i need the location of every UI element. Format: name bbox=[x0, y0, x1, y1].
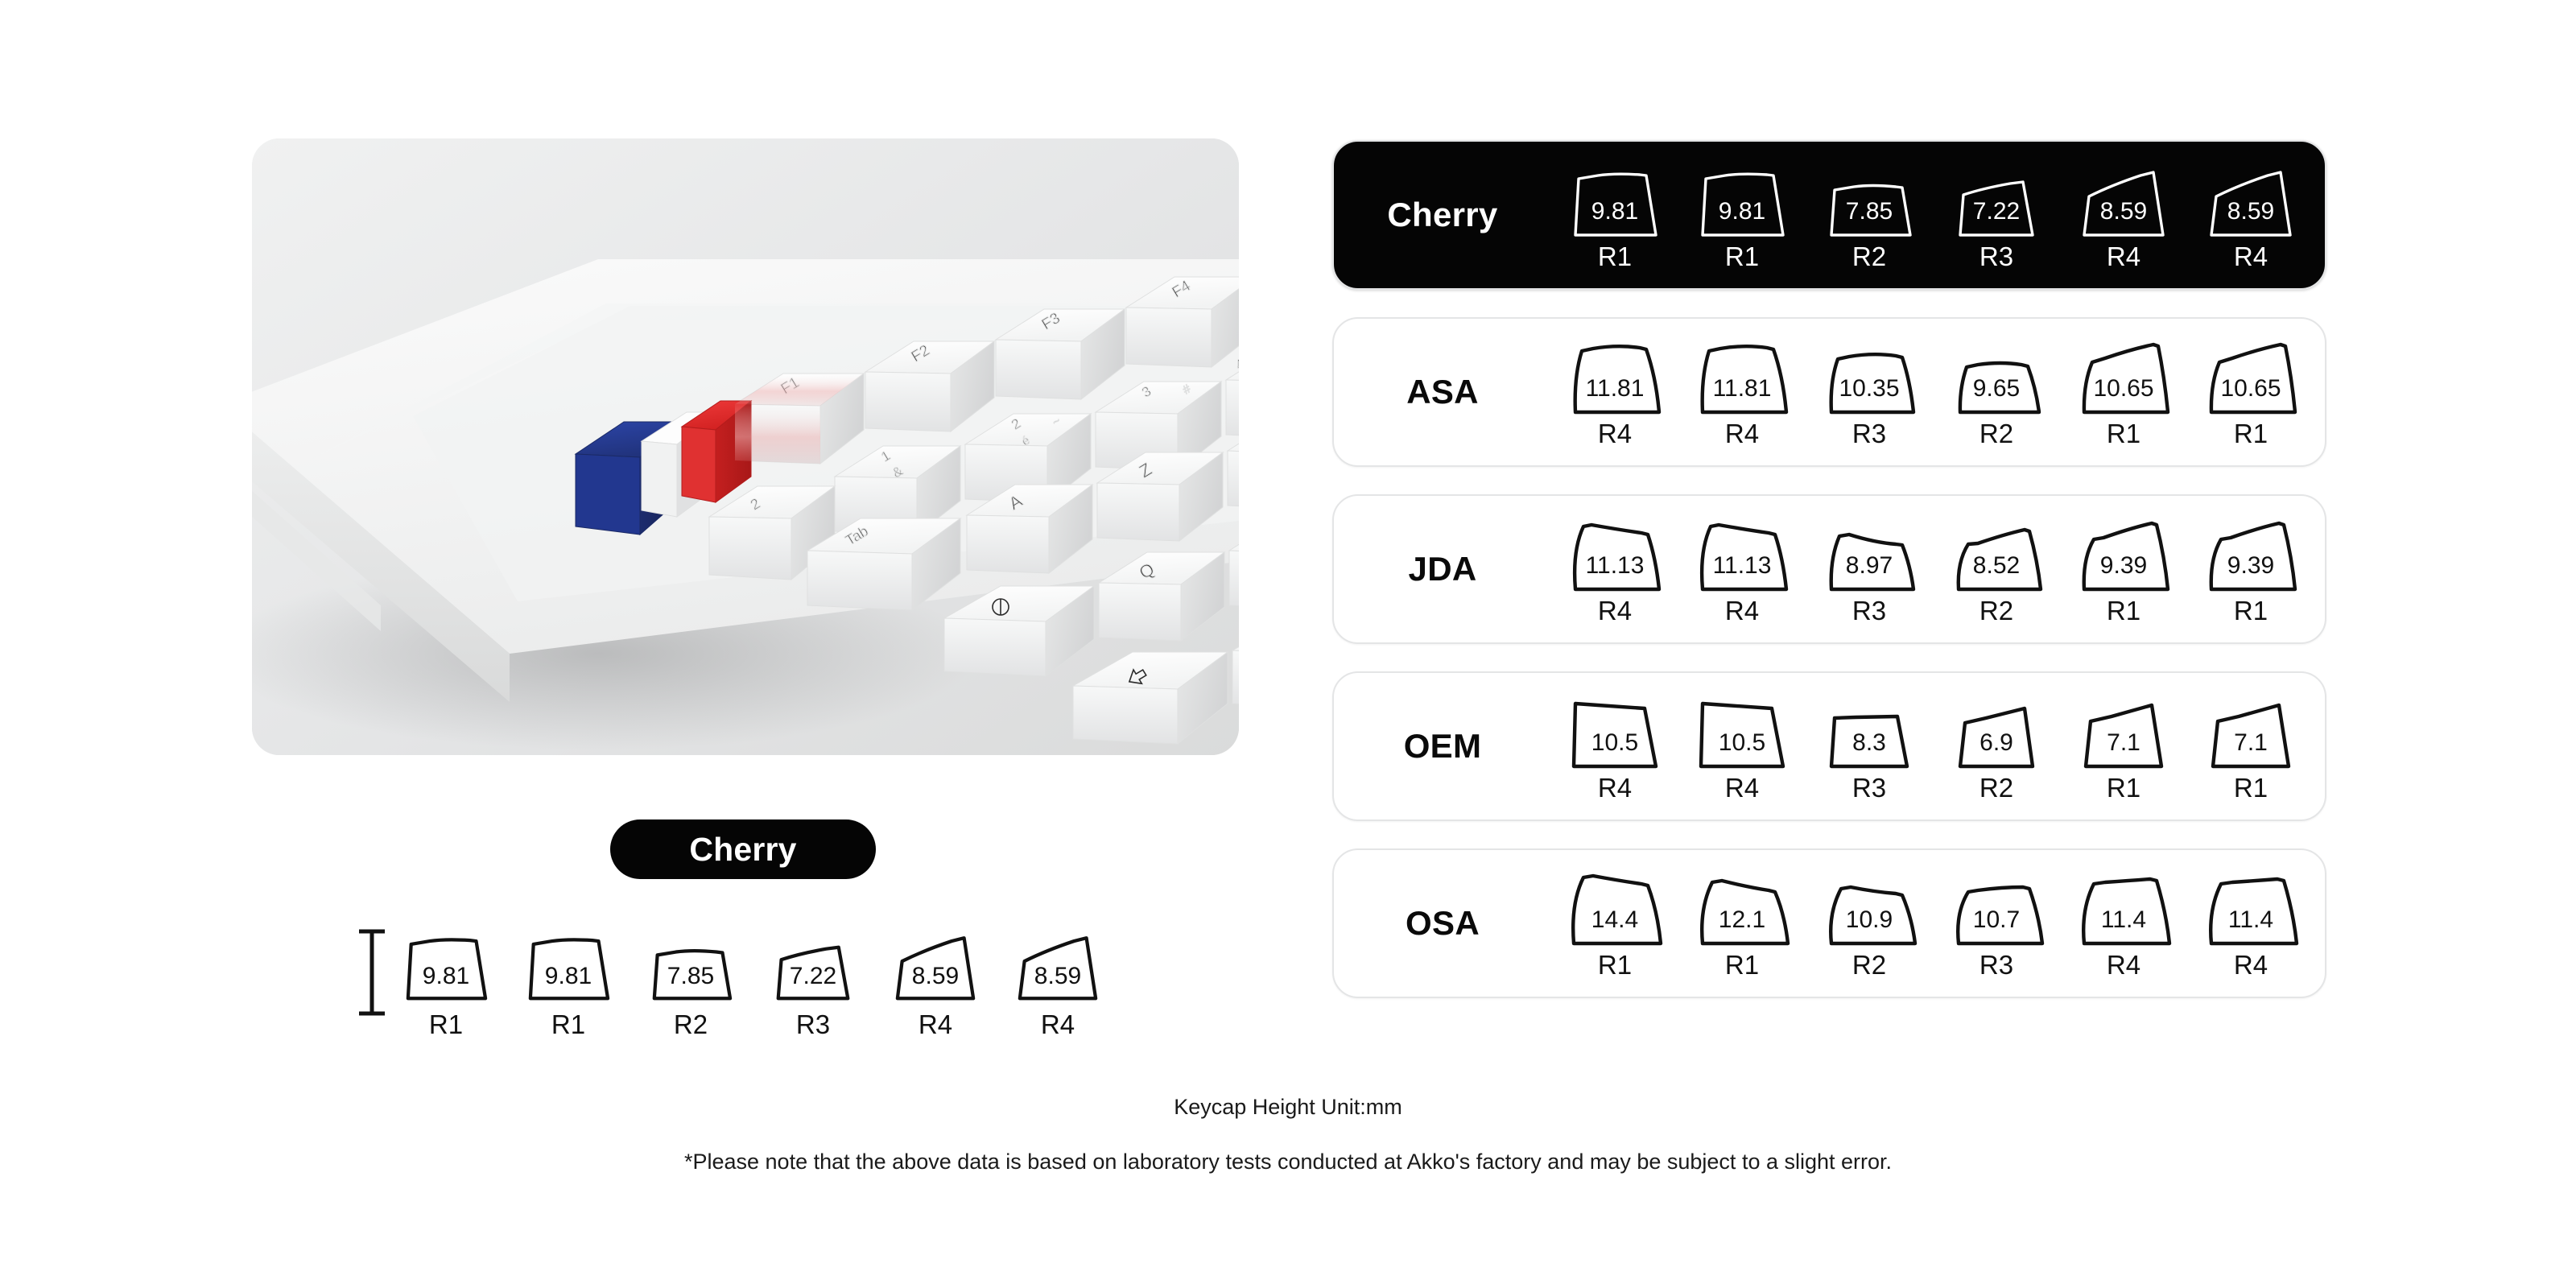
keycap-cell: 11.13R4 bbox=[1678, 509, 1806, 630]
profile-cards-list: Cherry9.81R19.81R17.85R27.22R38.59R48.59… bbox=[1332, 140, 2326, 1026]
keycap-cell: 9.39R1 bbox=[2187, 509, 2314, 630]
keycap-row-label: R1 bbox=[2060, 773, 2187, 803]
profile-card-osa[interactable]: OSA14.4R112.1R110.9R210.7R311.4R411.4R4 bbox=[1332, 848, 2326, 998]
keycap-row-label: R1 bbox=[1551, 242, 1678, 272]
keycap-cell: 11.81R4 bbox=[1678, 332, 1806, 452]
keycap-row-label: R1 bbox=[1678, 950, 1806, 980]
disclaimer-note: *Please note that the above data is base… bbox=[0, 1150, 2576, 1174]
profile-card-asa[interactable]: ASA11.81R411.81R410.35R39.65R210.65R110.… bbox=[1332, 317, 2326, 467]
keycap-cell: 9.39R1 bbox=[2060, 509, 2187, 630]
keycap-silhouette-icon bbox=[1678, 509, 1806, 596]
keycap-cell: 7.85R2 bbox=[630, 918, 752, 1046]
keycap-row-label: R4 bbox=[1678, 419, 1806, 449]
keycap-cell: 11.4R4 bbox=[2060, 863, 2187, 984]
keycap-silhouette-icon bbox=[874, 918, 997, 1008]
keycap-row-label: R1 bbox=[507, 1009, 630, 1040]
keycap-cell: 8.97R3 bbox=[1806, 509, 1933, 630]
keycap-silhouette-icon bbox=[1806, 863, 1933, 950]
keycap-row-label: R3 bbox=[1806, 419, 1933, 449]
keycap-row-label: R2 bbox=[1806, 950, 1933, 980]
keycap-row-label: R2 bbox=[1933, 596, 2060, 626]
keycap-silhouette-icon bbox=[1806, 686, 1933, 773]
keycap-silhouette-icon bbox=[1678, 863, 1806, 950]
profile-caps-row: 11.13R411.13R48.97R38.52R29.39R19.39R1 bbox=[1551, 509, 2325, 630]
keycap-silhouette-icon bbox=[2187, 332, 2314, 419]
keycap-row-label: R4 bbox=[1551, 773, 1678, 803]
keycap-cell: 8.59R4 bbox=[2060, 155, 2187, 275]
keycap-cell: 12.1R1 bbox=[1678, 863, 1806, 984]
keycap-row-label: R4 bbox=[2060, 242, 2187, 272]
keycap-silhouette-icon bbox=[385, 918, 507, 1008]
keycap-cell: 9.81R1 bbox=[385, 918, 507, 1046]
keycap-row-label: R3 bbox=[1806, 596, 1933, 626]
keycap-row-label: R1 bbox=[2187, 773, 2314, 803]
keycap-row-label: R2 bbox=[1933, 419, 2060, 449]
keycap-row-label: R1 bbox=[385, 1009, 507, 1040]
keycap-cell: 8.59R4 bbox=[2187, 155, 2314, 275]
keycap-silhouette-icon bbox=[2060, 509, 2187, 596]
keycap-row-label: R4 bbox=[1551, 596, 1678, 626]
profile-caps-row: 9.81R19.81R17.85R27.22R38.59R48.59R4 bbox=[1551, 155, 2325, 275]
keycap-silhouette-icon bbox=[1933, 332, 2060, 419]
keycap-cell: 8.3R3 bbox=[1806, 686, 1933, 807]
keycap-cell: 10.65R1 bbox=[2060, 332, 2187, 452]
keycap-silhouette-icon bbox=[2187, 863, 2314, 950]
keycap-row-label: R2 bbox=[1933, 773, 2060, 803]
keycap-cell: 11.4R4 bbox=[2187, 863, 2314, 984]
profile-name-label: Cherry bbox=[1334, 196, 1551, 234]
keycap-silhouette-icon bbox=[2187, 509, 2314, 596]
profile-name-label: JDA bbox=[1334, 550, 1551, 588]
keycap-silhouette-icon bbox=[2060, 155, 2187, 242]
keycap-cell: 14.4R1 bbox=[1551, 863, 1678, 984]
profile-card-cherry[interactable]: Cherry9.81R19.81R17.85R27.22R38.59R48.59… bbox=[1332, 140, 2326, 290]
keycap-silhouette-icon bbox=[752, 918, 874, 1008]
keycap-cell: 9.81R1 bbox=[1678, 155, 1806, 275]
keycap-row-label: R4 bbox=[874, 1009, 997, 1040]
detail-caps-row: 9.81R19.81R17.85R27.22R38.59R48.59R4 bbox=[346, 918, 1167, 1046]
keycap-cell: 7.1R1 bbox=[2187, 686, 2314, 807]
keycap-cell: 9.65R2 bbox=[1933, 332, 2060, 452]
keycap-cell: 6.9R2 bbox=[1933, 686, 2060, 807]
keycap-silhouette-icon bbox=[630, 918, 752, 1008]
keycap-cell: 8.59R4 bbox=[874, 918, 997, 1046]
keycap-silhouette-icon bbox=[2060, 332, 2187, 419]
keycap-row-label: R3 bbox=[1933, 242, 2060, 272]
keycap-row-label: R4 bbox=[1551, 419, 1678, 449]
keycap-row-label: R4 bbox=[997, 1009, 1119, 1040]
keycap-cell: 7.1R1 bbox=[2060, 686, 2187, 807]
profile-caps-row: 10.5R410.5R48.3R36.9R27.1R17.1R1 bbox=[1551, 686, 2325, 807]
keycap-row-label: R4 bbox=[2060, 950, 2187, 980]
keycap-silhouette-icon bbox=[1933, 155, 2060, 242]
keycap-silhouette-icon bbox=[1806, 332, 1933, 419]
keycap-silhouette-icon bbox=[1933, 863, 2060, 950]
profile-caps-row: 14.4R112.1R110.9R210.7R311.4R411.4R4 bbox=[1551, 863, 2325, 984]
keycap-silhouette-icon bbox=[2060, 686, 2187, 773]
profile-name-label: OSA bbox=[1334, 904, 1551, 943]
keycap-silhouette-icon bbox=[1933, 509, 2060, 596]
keycap-row-label: R1 bbox=[2187, 419, 2314, 449]
keycap-cell: 10.35R3 bbox=[1806, 332, 1933, 452]
keycap-row-label: R1 bbox=[2060, 419, 2187, 449]
keycap-row-label: R2 bbox=[1806, 242, 1933, 272]
keycap-cell: 10.5R4 bbox=[1678, 686, 1806, 807]
keycap-silhouette-icon bbox=[997, 918, 1119, 1008]
keycap-silhouette-icon bbox=[2060, 863, 2187, 950]
keycap-row-label: R4 bbox=[1678, 596, 1806, 626]
keycap-cell: 10.65R1 bbox=[2187, 332, 2314, 452]
keycap-row-label: R3 bbox=[1933, 950, 2060, 980]
keycap-cell: 8.59R4 bbox=[997, 918, 1119, 1046]
keycap-silhouette-icon bbox=[2187, 686, 2314, 773]
keycap-row-label: R2 bbox=[630, 1009, 752, 1040]
keycap-row-label: R4 bbox=[1678, 773, 1806, 803]
keycap-silhouette-icon bbox=[1678, 155, 1806, 242]
keycap-cell: 9.81R1 bbox=[507, 918, 630, 1046]
keycap-cell: 11.81R4 bbox=[1551, 332, 1678, 452]
product-photo: F1 F2 F3 F4 bbox=[252, 138, 1239, 755]
keycap-silhouette-icon bbox=[1678, 332, 1806, 419]
keycap-row-label: R3 bbox=[1806, 773, 1933, 803]
keycap-cell: 7.85R2 bbox=[1806, 155, 1933, 275]
keycap-cell: 10.5R4 bbox=[1551, 686, 1678, 807]
keycap-row-label: R4 bbox=[2187, 950, 2314, 980]
keycap-cell: 8.52R2 bbox=[1933, 509, 2060, 630]
keycap-silhouette-icon bbox=[1551, 155, 1678, 242]
keycap-silhouette-icon bbox=[1933, 686, 2060, 773]
keycap-cell: 7.22R3 bbox=[752, 918, 874, 1046]
selected-profile-detail-row: 9.81R19.81R17.85R27.22R38.59R48.59R4 bbox=[346, 918, 1167, 1063]
keycap-cell: 9.81R1 bbox=[1551, 155, 1678, 275]
unit-note: Keycap Height Unit:mm bbox=[0, 1095, 2576, 1120]
profile-card-oem[interactable]: OEM10.5R410.5R48.3R36.9R27.1R17.1R1 bbox=[1332, 671, 2326, 821]
keycap-silhouette-icon bbox=[1806, 509, 1933, 596]
keycap-row-label: R1 bbox=[1551, 950, 1678, 980]
profile-card-jda[interactable]: JDA11.13R411.13R48.97R38.52R29.39R19.39R… bbox=[1332, 494, 2326, 644]
keycap-row-label: R4 bbox=[2187, 242, 2314, 272]
profile-name-label: OEM bbox=[1334, 727, 1551, 766]
keycap-silhouette-icon bbox=[1806, 155, 1933, 242]
keycap-row-label: R1 bbox=[2187, 596, 2314, 626]
keycap-silhouette-icon bbox=[1551, 686, 1678, 773]
keycap-row-label: R3 bbox=[752, 1009, 874, 1040]
keycap-row-label: R1 bbox=[2060, 596, 2187, 626]
keycap-cell: 11.13R4 bbox=[1551, 509, 1678, 630]
keyboard-illustration: F1 F2 F3 F4 bbox=[252, 138, 1239, 755]
selected-profile-label: Cherry bbox=[689, 831, 796, 869]
keycap-silhouette-icon bbox=[1551, 509, 1678, 596]
keycap-cell: 10.7R3 bbox=[1933, 863, 2060, 984]
keycap-cell: 10.9R2 bbox=[1806, 863, 1933, 984]
profile-name-label: ASA bbox=[1334, 373, 1551, 411]
keycap-silhouette-icon bbox=[2187, 155, 2314, 242]
keycap-cell: 7.22R3 bbox=[1933, 155, 2060, 275]
keycap-silhouette-icon bbox=[1551, 332, 1678, 419]
keycap-silhouette-icon bbox=[1678, 686, 1806, 773]
profile-caps-row: 11.81R411.81R410.35R39.65R210.65R110.65R… bbox=[1551, 332, 2325, 452]
keycap-silhouette-icon bbox=[507, 918, 630, 1008]
keycap-silhouette-icon bbox=[1551, 863, 1678, 950]
selected-profile-badge[interactable]: Cherry bbox=[610, 819, 876, 879]
keycap-row-label: R1 bbox=[1678, 242, 1806, 272]
height-ibeam-icon bbox=[356, 927, 388, 1018]
